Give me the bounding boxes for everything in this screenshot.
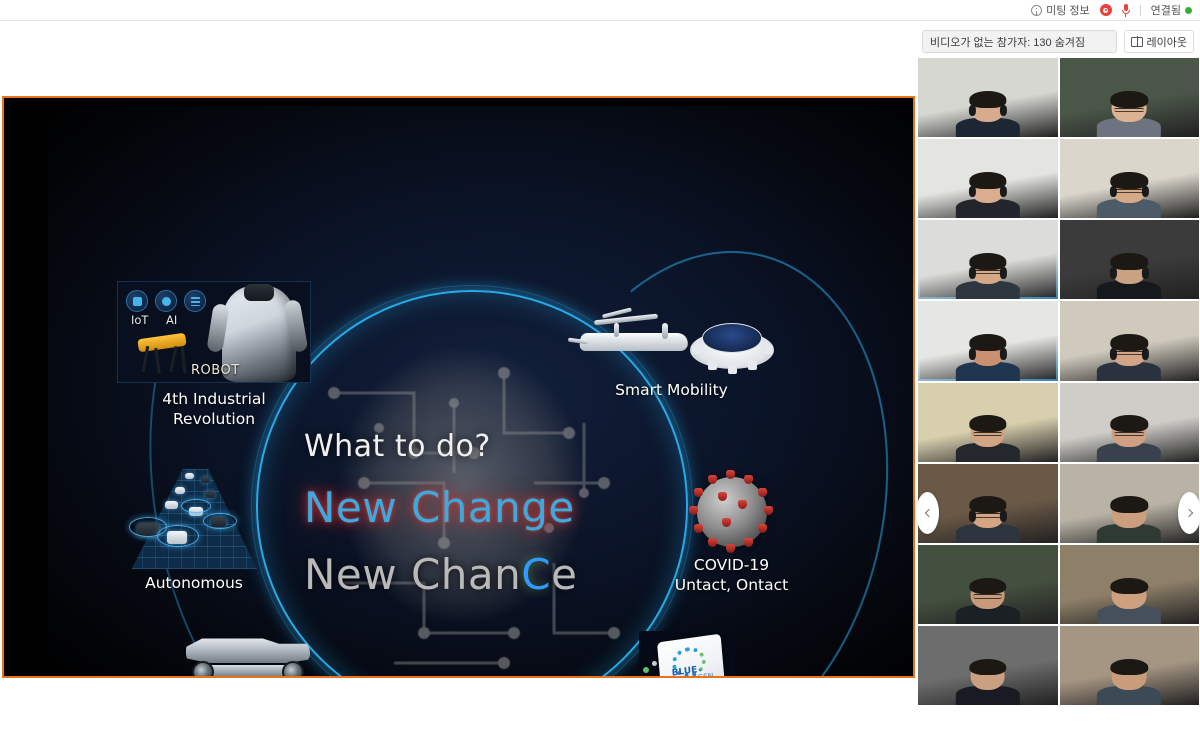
participant-figure: [1097, 417, 1161, 461]
glasses-icon: [1115, 432, 1145, 436]
badge-label-ai: AI: [166, 313, 177, 327]
video-feed: [918, 545, 1058, 624]
video-conference-window: 미팅 정보 연결됨: [0, 0, 1200, 750]
connection-status-label: 연결됨: [1151, 2, 1181, 18]
participant-figure: [1097, 93, 1161, 137]
chance-suffix: e: [551, 550, 577, 599]
next-page-button[interactable]: [1178, 492, 1200, 534]
badge-label-iot: IoT: [131, 313, 148, 327]
participant-tile[interactable]: [1060, 301, 1200, 380]
participant-figure: [956, 417, 1020, 461]
video-feed: [1060, 139, 1200, 218]
participant-tile[interactable]: [1060, 58, 1200, 137]
video-feed: [1060, 383, 1200, 462]
meeting-info-button[interactable]: 미팅 정보: [1031, 2, 1090, 18]
participant-tile[interactable]: [918, 383, 1058, 462]
participant-figure: [956, 580, 1020, 624]
robot-icon: [184, 290, 206, 312]
top-status-bar: 미팅 정보 연결됨: [0, 0, 1200, 21]
glasses-icon: [973, 594, 1003, 598]
participant-tile[interactable]: [918, 626, 1058, 705]
connection-status: 연결됨: [1151, 2, 1192, 18]
meeting-info-label: 미팅 정보: [1046, 2, 1090, 18]
participant-figure: [1097, 661, 1161, 705]
headset-icon: [1000, 186, 1007, 198]
participant-tile[interactable]: [1060, 626, 1200, 705]
participant-figure: [956, 93, 1020, 137]
video-feed: [918, 383, 1058, 462]
slide-item-industrial-revolution: IoT AI ROBOT 4th Industrial Revolution: [114, 281, 314, 430]
chance-prefix: New Chan: [304, 550, 521, 599]
air-taxi-graphic: [568, 309, 708, 365]
robot-dog-graphic: [136, 328, 198, 378]
video-feed: [918, 464, 1058, 543]
headset-icon: [1000, 348, 1007, 360]
headset-icon: [969, 348, 976, 360]
layout-button[interactable]: 레이아웃: [1124, 30, 1194, 53]
caption-industrial-revolution: 4th Industrial Revolution: [114, 390, 314, 430]
participant-tile[interactable]: [918, 139, 1058, 218]
chevron-left-icon: [924, 509, 932, 517]
slide-item-electric-car: Electric car: [174, 631, 324, 676]
caption-autonomous: Autonomous: [114, 574, 274, 594]
participant-figure: [1097, 580, 1161, 624]
participants-filter-bar: 비디오가 없는 참가자: 130 숨겨짐 레이아웃: [917, 28, 1200, 55]
caption-covid: COVID-19 Untact, Ontact: [659, 556, 804, 596]
smart-mobility-photo: [562, 303, 782, 381]
hydrogen-logo-photo: BLUE HYDROGEN: [639, 631, 735, 676]
video-feed: [1060, 545, 1200, 624]
slide-question-text: What to do?: [304, 429, 634, 464]
shared-screen-area[interactable]: What to do? New Change New ChanCe: [2, 96, 915, 678]
video-feed: [1060, 626, 1200, 705]
video-feed: [918, 58, 1058, 137]
video-feed: [918, 220, 1058, 299]
participant-tile[interactable]: [918, 301, 1058, 380]
participant-video-grid: [918, 58, 1199, 705]
participant-figure: [956, 174, 1020, 218]
connection-status-dot: [1185, 7, 1192, 14]
ai-brain-icon: [155, 290, 177, 312]
video-feed: [918, 301, 1058, 380]
glasses-icon: [1115, 351, 1145, 355]
participant-figure: [956, 661, 1020, 705]
iot-chip-icon: [126, 290, 148, 312]
slide-item-autonomous: Autonomous: [114, 461, 274, 594]
presentation-slide: What to do? New Change New ChanCe: [4, 98, 913, 676]
participant-figure: [956, 255, 1020, 299]
chevron-right-icon: [1184, 509, 1192, 517]
participant-tile[interactable]: [918, 464, 1058, 543]
headset-icon: [1110, 267, 1117, 279]
vertiport-graphic: [690, 317, 774, 373]
participant-figure: [1097, 174, 1161, 218]
video-feed: [918, 626, 1058, 705]
hidden-participants-value: 비디오가 없는 참가자: 130 숨겨짐: [930, 34, 1085, 50]
blue-hydrogen-card: BLUE HYDROGEN: [657, 634, 725, 676]
participant-tile[interactable]: [918, 220, 1058, 299]
robot-photo: IoT AI ROBOT: [117, 281, 311, 383]
slide-new-chance-text: New ChanCe: [304, 550, 634, 599]
participant-tile[interactable]: [918, 58, 1058, 137]
participant-figure: [1097, 255, 1161, 299]
electric-car-chassis-photo: [178, 631, 320, 676]
participant-tile[interactable]: [1060, 545, 1200, 624]
previous-page-button[interactable]: [916, 492, 939, 534]
participant-tile[interactable]: [918, 545, 1058, 624]
glasses-icon: [973, 513, 1003, 517]
video-feed: [1060, 58, 1200, 137]
recording-icon[interactable]: [1100, 4, 1112, 16]
layout-button-label: 레이아웃: [1147, 34, 1187, 50]
glasses-icon: [973, 270, 1003, 274]
headset-icon: [969, 186, 976, 198]
participant-tile[interactable]: [1060, 383, 1200, 462]
headset-icon: [969, 105, 976, 117]
slide-new-change-text: New Change: [304, 483, 634, 532]
microphone-icon[interactable]: [1122, 4, 1130, 17]
tech-badges: [126, 290, 206, 312]
slide-left-margin: [4, 98, 48, 676]
participant-figure: [1097, 336, 1161, 380]
layout-grid-icon: [1131, 37, 1143, 47]
glasses-icon: [973, 432, 1003, 436]
participant-figure: [956, 336, 1020, 380]
badge-label-robot: ROBOT: [191, 363, 240, 378]
coronavirus-photo: [688, 470, 776, 556]
headset-icon: [1141, 267, 1148, 279]
autonomous-driving-photo: [119, 461, 269, 574]
participant-tile[interactable]: [1060, 220, 1200, 299]
participants-panel: 비디오가 없는 참가자: 130 숨겨짐 레이아웃: [917, 21, 1200, 750]
video-feed: [1060, 301, 1200, 380]
headset-icon: [1000, 105, 1007, 117]
slide-item-covid: COVID-19 Untact, Ontact: [659, 470, 804, 596]
participant-figure: [956, 498, 1020, 542]
chance-highlight: C: [521, 550, 551, 599]
glasses-icon: [1115, 189, 1145, 193]
caption-smart-mobility: Smart Mobility: [559, 381, 784, 401]
slide-item-hydrogen: BLUE HYDROGEN Hydrogen Energy: [614, 631, 759, 676]
slide-item-smart-mobility: Smart Mobility: [559, 303, 784, 401]
glasses-icon: [1115, 108, 1145, 112]
divider: [1140, 5, 1141, 16]
info-circle-icon: [1031, 5, 1042, 16]
video-feed: [918, 139, 1058, 218]
participant-figure: [1097, 498, 1161, 542]
video-feed: [1060, 220, 1200, 299]
participant-tile[interactable]: [1060, 139, 1200, 218]
hidden-participants-field[interactable]: 비디오가 없는 참가자: 130 숨겨짐: [922, 30, 1117, 53]
